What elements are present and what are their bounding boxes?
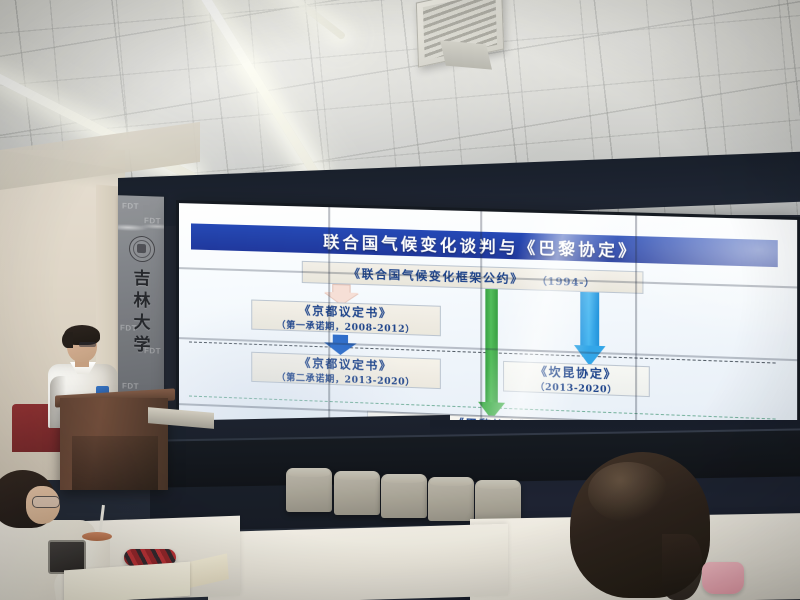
node-cancun-period: （2013-2020） [535,379,617,395]
arrow-shaft [485,289,497,404]
node-unfccc-title: 《联合国气候变化框架公约》 [348,265,524,287]
pink-pouch[interactable] [702,562,744,594]
node-cancun: 《坎昆协定》 （2013-2020） [503,361,650,397]
presenter-glasses-icon [79,342,96,347]
stool[interactable] [286,468,332,512]
arrow-kyoto-first-to-second [324,334,357,355]
node-kyoto-second-period: （第二承诺期，2013-2020） [276,369,415,387]
banner-watermark: FDT [122,381,139,391]
attendee-right-hair-strand [662,534,702,600]
drink-cup-lid[interactable] [82,532,112,541]
stool[interactable] [334,471,380,515]
arrow-head [324,342,357,355]
banner-watermark: FDT [122,201,139,211]
banner-wave-decor [118,221,164,235]
air-vent-side [440,40,492,69]
node-kyoto-second: 《京都议定书》 （第二承诺期，2013-2020） [251,352,441,389]
banner-watermark: FDT [120,323,137,333]
arrow-unfccc-to-cancun [574,292,606,367]
banner-watermark: FDT [144,346,161,356]
university-seal-icon [129,236,155,263]
lecture-hall-photo: FDT FDT 吉林大学 FDT FDT FDT 联合国气候变化谈判与《巴黎协定… [0,0,800,600]
stool[interactable] [381,474,427,518]
stool[interactable] [428,477,474,521]
node-unfccc-period: （1994-） [536,272,595,289]
slide-title-bar: 联合国气候变化谈判与《巴黎协定》 [191,223,778,267]
banner-institution-name: 吉林大学 [130,268,154,357]
university-banner: FDT FDT 吉林大学 FDT FDT FDT [118,195,164,419]
presenter-hair-side [62,332,73,348]
attendee-left-glasses-icon [32,496,60,508]
node-kyoto-first-period: （第一承诺期，2008-2012） [276,317,415,335]
foreground-table-center [208,524,508,600]
attendee-right-hair-highlight [588,462,668,522]
slide-title: 联合国气候变化谈判与《巴黎协定》 [323,228,638,262]
node-kyoto-first: 《京都议定书》 （第一承诺期，2008-2012） [251,299,441,336]
arrow-shaft [580,292,599,346]
arrow-unfccc-to-paris [478,289,505,420]
